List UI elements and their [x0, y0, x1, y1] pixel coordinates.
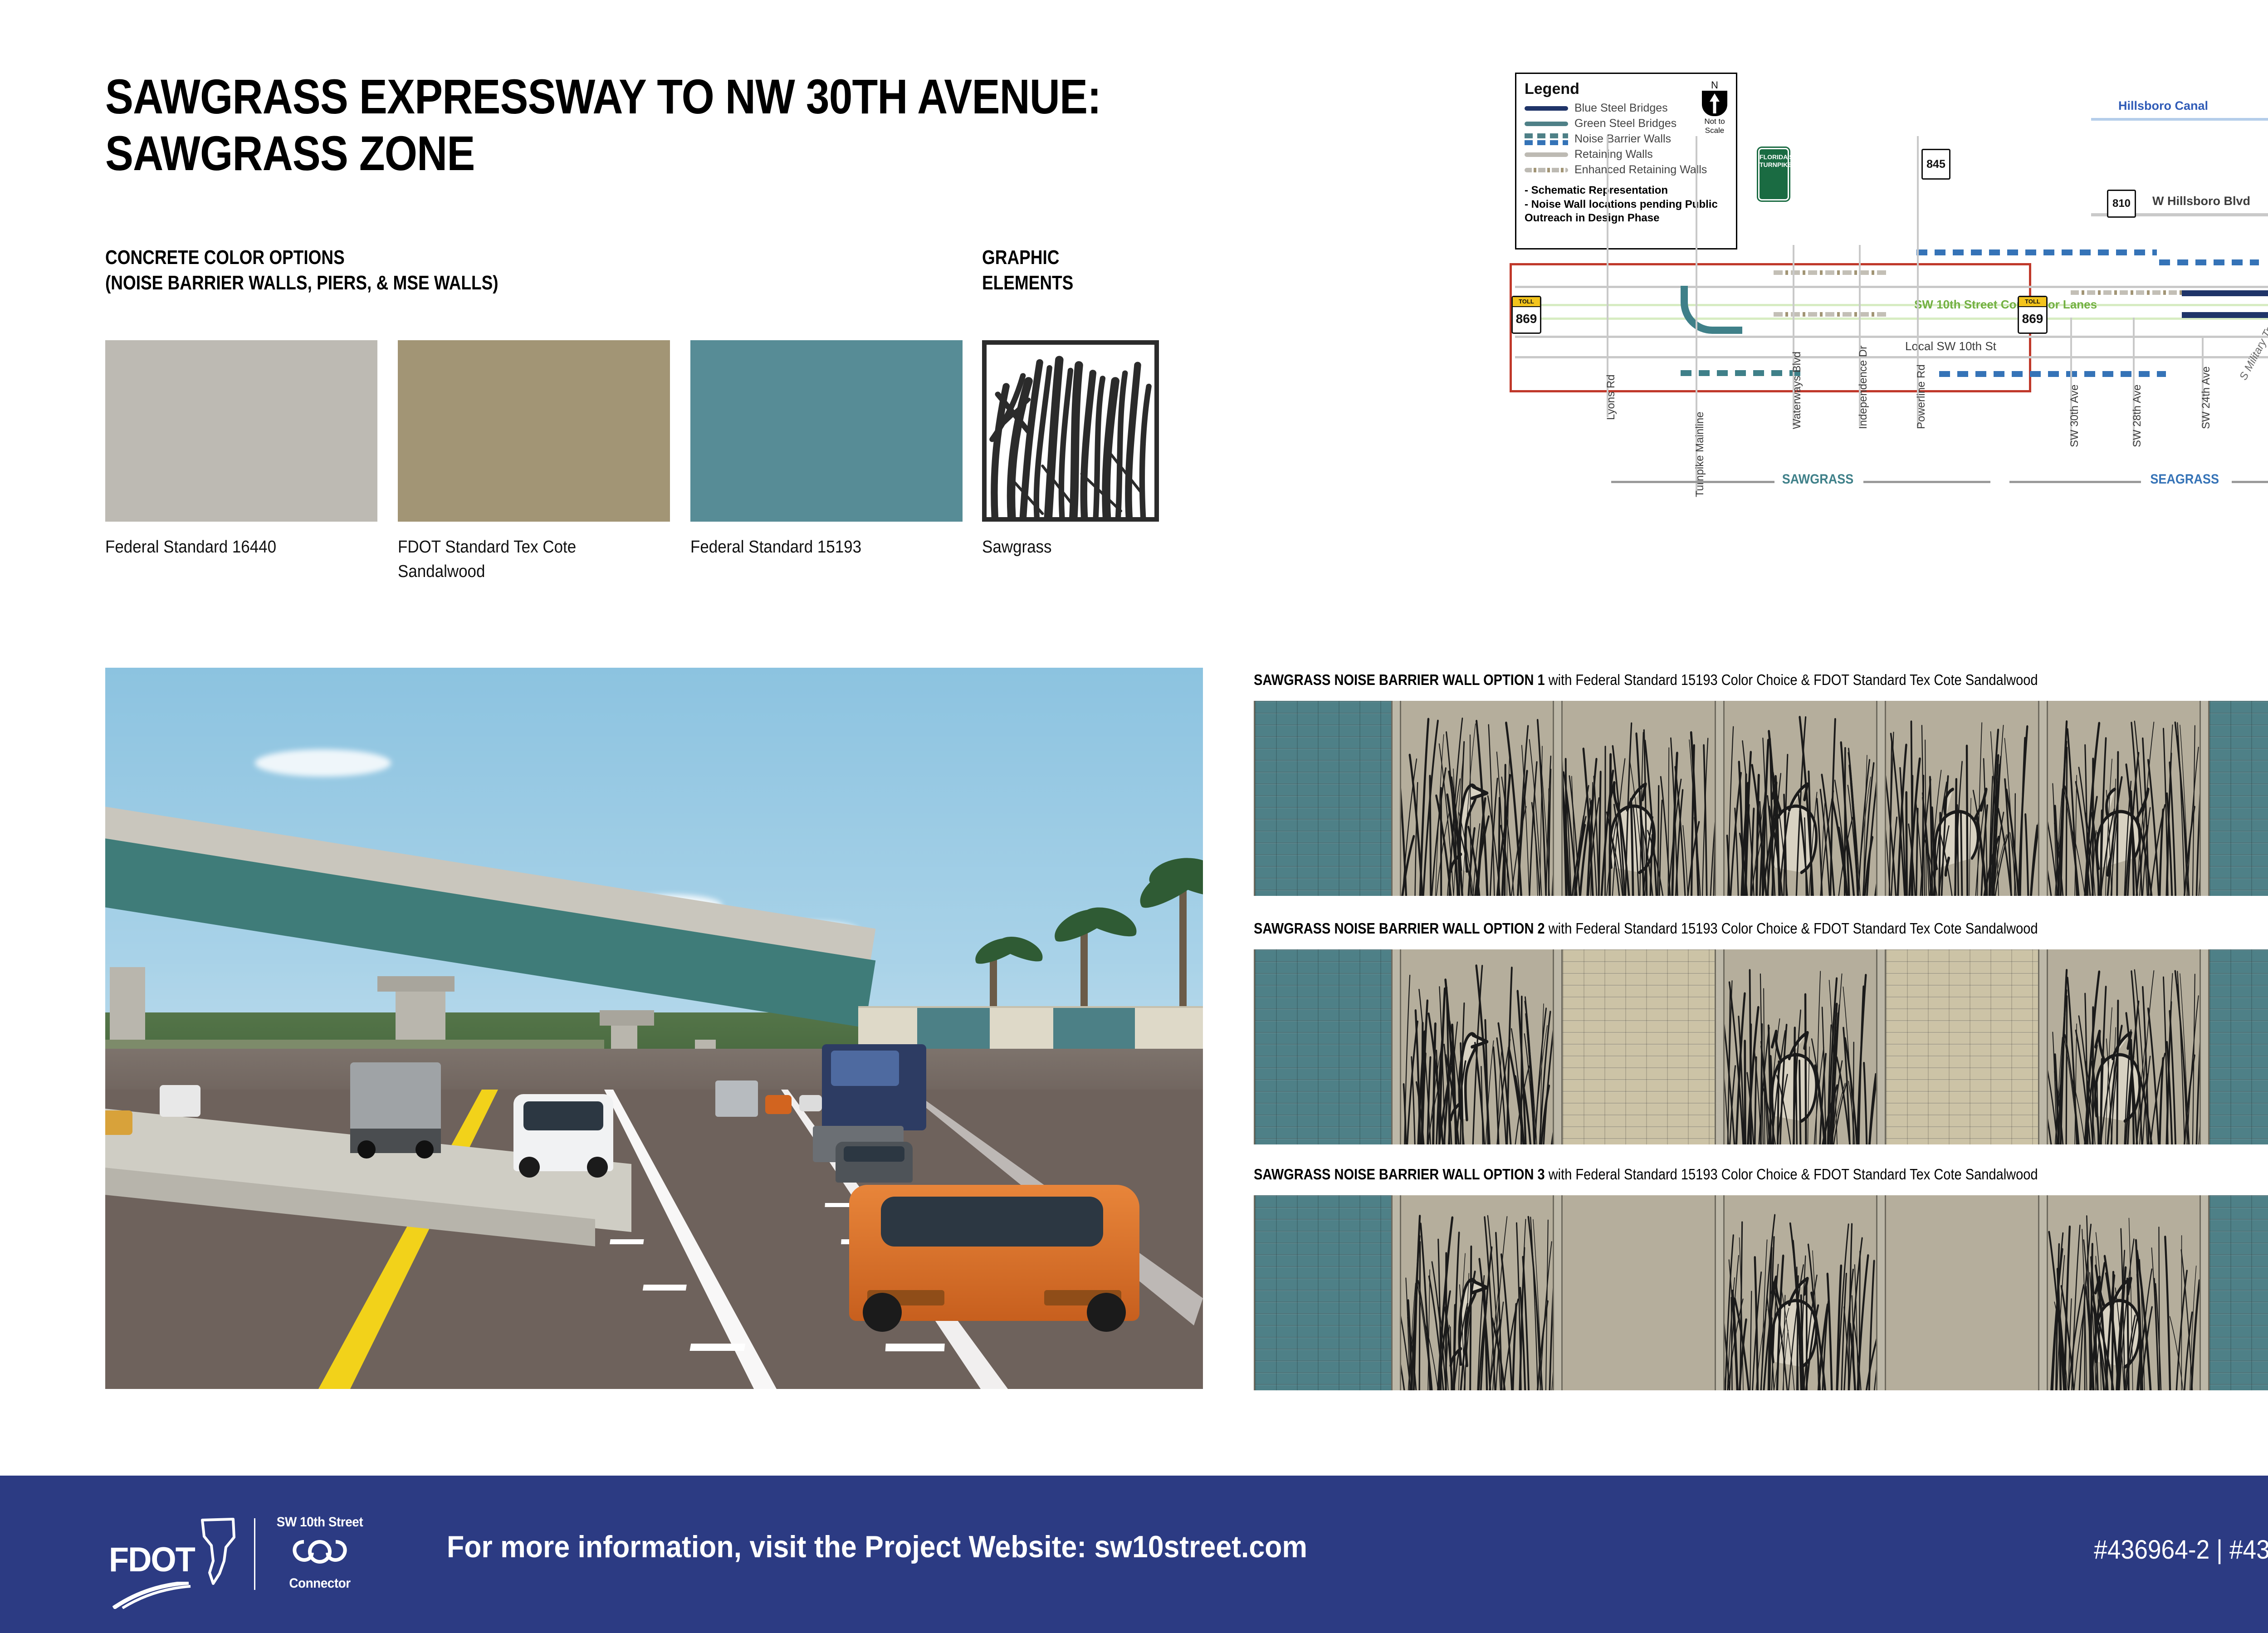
wall-panel-gap: [2201, 701, 2208, 896]
sw-10th-street-connector-logo: SW 10th Street Connector: [268, 1515, 372, 1591]
sr-869-toll-shield-east: TOLL 869: [2018, 296, 2048, 334]
brick-texture: [2209, 701, 2268, 896]
compass-north-label: N: [1700, 80, 1730, 90]
turnpike-mainline-label: Turnpike Mainline: [1694, 411, 1706, 497]
waterways-blvd-label: Waterways Blvd: [1791, 352, 1804, 429]
corridor-line: [1515, 336, 2268, 338]
sw-24th-ave-label: SW 24th Ave: [2200, 367, 2213, 429]
page-title: SAWGRASS EXPRESSWAY TO NW 30TH AVENUE: S…: [105, 68, 1421, 182]
wall-panel-sandalwood-sawgrass-art: [2047, 1195, 2201, 1390]
wall-panel-teal-brick: [2208, 949, 2268, 1144]
connector-mark-icon: [286, 1533, 354, 1571]
north-arrow-icon: N Not to Scale: [1700, 80, 1730, 135]
enhanced-retaining-wall-ticks: [1774, 270, 1887, 275]
wall-panel-gap: [2039, 701, 2047, 896]
brick-texture: [1886, 949, 2038, 1144]
legend-label: Enhanced Retaining Walls: [1574, 163, 1707, 176]
legend-label: Retaining Walls: [1574, 148, 1653, 161]
wall-panel-teal-brick: [1254, 1195, 1393, 1390]
graphic-elements-heading: GRAPHIC ELEMENTS: [982, 245, 1073, 296]
wall-panel-sandalwood-sawgrass-art: [1723, 701, 1877, 896]
cr-845-shield: 845: [1921, 149, 1950, 180]
wall-panel-sandalwood-sawgrass-art: [1400, 1195, 1554, 1390]
wall-option-1-title: SAWGRASS NOISE BARRIER WALL OPTION 1: [1254, 671, 1545, 688]
sawgrass-zone-arrow-right: [1863, 481, 1990, 483]
sr-810-shield: 810: [2107, 190, 2136, 218]
hillsboro-canal-label: Hillsboro Canal: [2118, 99, 2208, 113]
concrete-colors-heading: CONCRETE COLOR OPTIONS (NOISE BARRIER WA…: [105, 245, 499, 296]
legend-key-solid-teal: [1525, 122, 1568, 126]
florida-turnpike-shield: FLORIDA'S TURNPIKE: [1758, 148, 1789, 200]
wall-panel-gap: [2201, 1195, 2208, 1390]
map-legend: Legend Blue Steel Bridges Green Steel Br…: [1515, 73, 1737, 249]
brick-texture: [1255, 949, 1391, 1144]
vehicle-blue-truck: [822, 1044, 926, 1130]
swatch-chip: [105, 340, 377, 522]
wall-panel-sandalwood-sawgrass-art: [1400, 949, 1554, 1144]
noise-wall-dash-blue: [1916, 249, 2157, 255]
wall-panel-gap: [1716, 1195, 1723, 1390]
legend-label: Green Steel Bridges: [1574, 117, 1677, 130]
road-swoosh-icon: [112, 1582, 203, 1609]
legend-key-dash-dot-gray: [1525, 168, 1568, 172]
toll-banner: TOLL: [2019, 297, 2046, 307]
title-line-1: SAWGRASS EXPRESSWAY TO NW 30TH AVENUE:: [105, 68, 1237, 125]
blue-steel-bridge-line: [2182, 290, 2268, 296]
wall-option-2-preview: [1254, 949, 2268, 1144]
bridge-pier-cap: [377, 976, 455, 992]
title-line-2: SAWGRASS ZONE: [105, 125, 1237, 181]
brick-texture: [2209, 1195, 2268, 1390]
wall-panel-sandalwood-sawgrass-art: [2047, 701, 2201, 896]
vehicle-dark-sedan: [836, 1142, 913, 1183]
sw-30th-ave-label: SW 30th Ave: [2068, 385, 2081, 447]
sawgrass-zone-label: SAWGRASS: [1782, 472, 1854, 487]
connector-logo-top-text: SW 10th Street: [271, 1515, 368, 1530]
noise-wall-dash-teal: [1681, 370, 1808, 376]
wall-panel-sandalwood-sawgrass-art: [1723, 1195, 1877, 1390]
wall-panel-sandalwood-brick: [1885, 949, 2039, 1144]
sr-869-toll-shield-west: TOLL 869: [1511, 296, 1541, 334]
wall-panel-gap: [1554, 1195, 1561, 1390]
wall-panel-gap: [1554, 701, 1561, 896]
footer-bar: FDOT SW 10th Street Connector For more i…: [0, 1476, 2268, 1633]
logo-divider: [254, 1518, 255, 1590]
local-sw-10th-st-label: Local SW 10th St: [1905, 339, 1996, 353]
wall-panel-gap: [2039, 949, 2047, 1144]
wall-panel-gap: [1393, 701, 1400, 896]
connector-lane-line: [1515, 304, 2268, 306]
noise-wall-dash-blue: [2159, 259, 2259, 265]
vehicle-distant-truck: [715, 1081, 758, 1117]
cloud: [255, 749, 391, 777]
w-hillsboro-blvd-label: W Hillsboro Blvd: [2152, 194, 2250, 208]
hillsboro-canal-line: [2091, 118, 2268, 121]
connector-lane-line: [1515, 318, 2268, 320]
sw-10th-street-connector-lanes-label: SW 10th Street Connector Lanes: [1914, 298, 2097, 312]
legend-row-blue-steel-bridges: Blue Steel Bridges: [1525, 102, 1728, 115]
wall-option-3-title: SAWGRASS NOISE BARRIER WALL OPTION 3: [1254, 1166, 1545, 1183]
wall-option-1-subtitle: with Federal Standard 15193 Color Choice…: [1545, 671, 2038, 688]
sawgrass-icon: [982, 340, 1159, 522]
legend-key-dashed-two-tone: [1525, 133, 1568, 145]
wall-panel-sandalwood-plain: [1561, 1195, 1716, 1390]
wall-panel-sandalwood-brick: [1561, 949, 1716, 1144]
sw-28th-ave-label: SW 28th Ave: [2131, 385, 2144, 447]
color-swatch-row: Federal Standard 16440 FDOT Standard Tex…: [105, 340, 1203, 531]
swatch-federal-standard-15193: Federal Standard 15193: [690, 340, 963, 522]
graphic-element-label: Sawgrass: [982, 535, 1241, 560]
legend-label: Noise Barrier Walls: [1574, 132, 1671, 146]
legend-key-solid-navy: [1525, 106, 1568, 111]
wall-option-3-heading: SAWGRASS NOISE BARRIER WALL OPTION 3 wit…: [1254, 1166, 2038, 1183]
swatch-label: Federal Standard 15193: [690, 535, 949, 560]
wall-option-3-preview: [1254, 1195, 2268, 1390]
wall-option-1-heading: SAWGRASS NOISE BARRIER WALL OPTION 1 wit…: [1254, 671, 2038, 689]
wall-panel-sandalwood-sawgrass-art: [1885, 701, 2039, 896]
swatch-federal-standard-16440: Federal Standard 16440: [105, 340, 377, 522]
vehicle-white-suv: [513, 1094, 613, 1171]
legend-key-solid-gray: [1525, 152, 1568, 157]
vehicle-box-truck: [350, 1062, 441, 1153]
graphic-elements-heading-line-1: GRAPHIC: [982, 245, 1073, 270]
connector-logo-bottom-text: Connector: [271, 1576, 368, 1591]
fdot-wordmark: FDOT: [109, 1540, 195, 1579]
brick-texture: [2209, 949, 2268, 1144]
wall-panel-gap: [1877, 1195, 1885, 1390]
independence-dr-label: Independence Dr: [1857, 346, 1870, 429]
wall-panel-gap: [2201, 949, 2208, 1144]
swatch-chip: [398, 340, 670, 522]
compass-scale-note: Not to Scale: [1700, 117, 1730, 135]
graphic-elements-heading-line-2: ELEMENTS: [982, 270, 1073, 296]
legend-row-green-steel-bridges: Green Steel Bridges: [1525, 117, 1728, 130]
vehicle-opposing-car: [105, 1110, 132, 1135]
project-map: Legend Blue Steel Bridges Green Steel Br…: [1506, 64, 2268, 631]
blue-steel-bridge-line: [2182, 312, 2268, 318]
wall-panel-sandalwood-sawgrass-art: [2047, 949, 2201, 1144]
graphic-element-sawgrass: Sawgrass: [982, 340, 1159, 522]
toll-banner: TOLL: [1513, 297, 1540, 307]
fdot-logo: FDOT SW 10th Street Connector: [109, 1515, 281, 1594]
wall-panel-sandalwood-plain: [1885, 1195, 2039, 1390]
swatch-chip: [690, 340, 963, 522]
concrete-colors-heading-line-1: CONCRETE COLOR OPTIONS: [105, 245, 499, 270]
wall-panel-teal-brick: [1254, 701, 1393, 896]
vehicle-opposing-truck: [160, 1085, 200, 1117]
swatch-label: FDOT Standard Tex Cote Sandalwood: [398, 535, 656, 584]
wall-panel-sandalwood-sawgrass-art: [1723, 949, 1877, 1144]
s-military-trail-label: S Military Trail: [2237, 316, 2268, 382]
concrete-colors-heading-line-2: (NOISE BARRIER WALLS, PIERS, & MSE WALLS…: [105, 270, 499, 296]
brick-texture: [1563, 949, 1714, 1144]
enhanced-retaining-wall-ticks: [1774, 312, 1887, 317]
brick-texture: [1255, 1195, 1391, 1390]
wall-panel-teal-brick: [1254, 949, 1393, 1144]
lyons-rd-label: Lyons Rd: [1605, 375, 1618, 420]
powerline-rd-label: Powerline Rd: [1915, 364, 1928, 429]
wall-panel-sandalwood-sawgrass-art: [1561, 701, 1716, 896]
wall-panel-gap: [1554, 949, 1561, 1144]
footer-project-ids: #436964-2 | #439891-1: [2094, 1535, 2268, 1565]
vehicle-orange-car: [849, 1185, 1139, 1321]
legend-title: Legend: [1525, 80, 1728, 98]
wall-panel-teal-brick: [2208, 701, 2268, 896]
wall-option-2-title: SAWGRASS NOISE BARRIER WALL OPTION 2: [1254, 920, 1545, 937]
wall-panel-gap: [1716, 949, 1723, 1144]
sawgrass-zone-arrow-left: [1611, 481, 1774, 483]
local-street-line: [1515, 356, 2268, 358]
wall-panel-gap: [1877, 701, 1885, 896]
swatch-label: Federal Standard 16440: [105, 535, 364, 560]
vehicle-distant-white: [799, 1095, 822, 1111]
brick-texture: [1255, 701, 1391, 896]
wall-panel-teal-brick: [2208, 1195, 2268, 1390]
wall-panel-gap: [2039, 1195, 2047, 1390]
wall-panel-sandalwood-sawgrass-art: [1400, 701, 1554, 896]
elevated-bridge: [105, 804, 885, 1058]
wall-option-2-subtitle: with Federal Standard 15193 Color Choice…: [1545, 920, 2038, 937]
seagrass-zone-label: SEAGRASS: [2150, 472, 2219, 487]
seagrass-zone-arrow-left: [2009, 481, 2141, 483]
legend-label: Blue Steel Bridges: [1574, 102, 1668, 115]
wall-panel-gap: [1877, 949, 1885, 1144]
wall-panel-gap: [1393, 949, 1400, 1144]
corridor-line: [1515, 286, 2268, 288]
swatch-fdot-tex-cote-sandalwood: FDOT Standard Tex Cote Sandalwood: [398, 340, 670, 522]
florida-outline-icon: [198, 1517, 240, 1585]
noise-wall-dash-blue: [1939, 371, 2166, 377]
wall-option-2-heading: SAWGRASS NOISE BARRIER WALL OPTION 2 wit…: [1254, 920, 2038, 937]
wall-panel-gap: [1393, 1195, 1400, 1390]
wall-option-3-subtitle: with Federal Standard 15193 Color Choice…: [1545, 1166, 2038, 1183]
vehicle-distant-orange: [765, 1095, 792, 1114]
wall-option-1-preview: [1254, 701, 2268, 896]
seagrass-zone-arrow-right: [2232, 481, 2268, 483]
wall-panel-gap: [1716, 701, 1723, 896]
highway-rendering: [105, 668, 1203, 1389]
bridge-pier-cap: [600, 1010, 654, 1026]
footer-message: For more information, visit the Project …: [447, 1529, 1307, 1565]
